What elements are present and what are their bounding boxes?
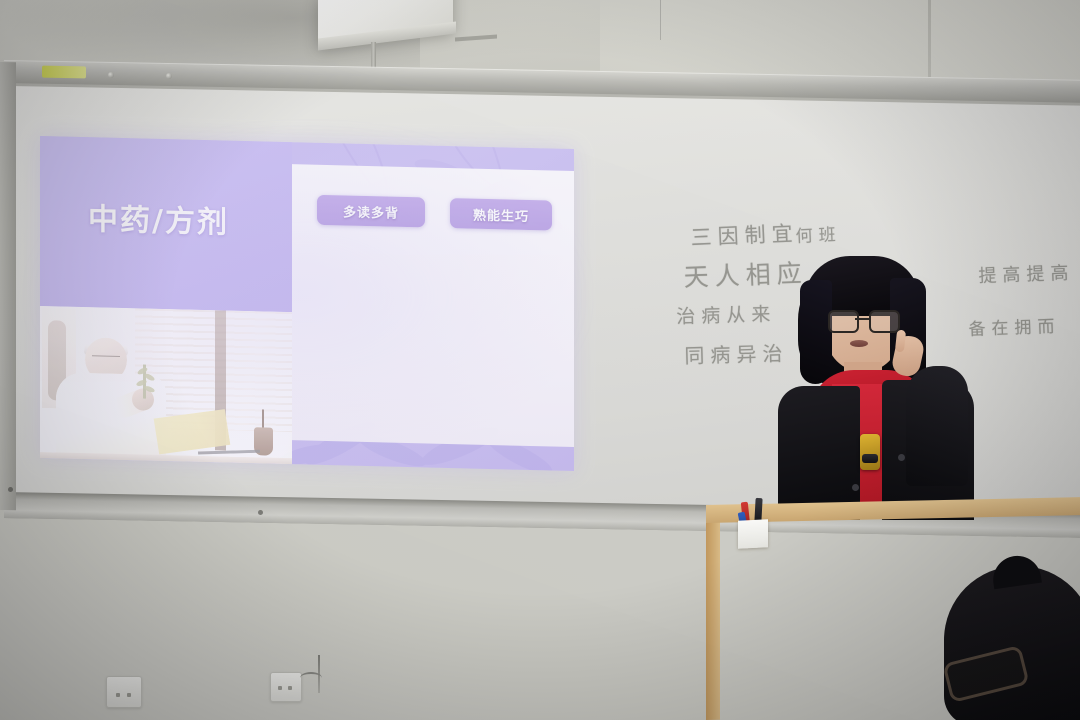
slide-photo [40, 306, 292, 464]
audience-member-silhouette [930, 556, 1080, 720]
presenter-glasses-bridge [855, 318, 869, 320]
wall-outlet [270, 672, 302, 702]
presenter-badge-clip [862, 454, 878, 463]
outlet-hole [278, 686, 282, 690]
presenter-mouth [850, 340, 868, 347]
presenter-arm-right [906, 366, 968, 486]
presenter-coat-button [898, 454, 905, 461]
presenter-glasses-icon [828, 310, 898, 330]
presenter-hair-left [800, 280, 832, 384]
whiteboard-tray-dot [258, 510, 263, 515]
photo-doctor-glasses-icon [92, 355, 120, 363]
presenter-badge [860, 434, 880, 470]
slide-chip-2: 熟能生巧 [450, 198, 552, 230]
wall-outlet [106, 676, 142, 708]
projected-slide: 中药/方剂 多读多背 熟能生 [40, 136, 574, 471]
slide-chip-1: 多读多背 [317, 195, 425, 228]
outlet-hole [116, 693, 120, 697]
presenter-coat-left [778, 386, 860, 520]
whiteboard-left-rail [0, 62, 16, 510]
whiteboard-screw [166, 73, 172, 79]
whiteboard-note: 提高提高 [978, 259, 1075, 288]
outlet-hole [127, 693, 131, 697]
slide-title: 中药/方剂 [88, 194, 229, 241]
whiteboard-label-sticker [42, 66, 86, 79]
slide-content-panel: 多读多背 熟能生巧 [292, 164, 574, 447]
whiteboard-note: 何班 [795, 220, 842, 247]
whiteboard-screw [108, 72, 114, 78]
outlet-hole [288, 686, 292, 690]
whiteboard-note: 三因制宜 [690, 217, 799, 252]
presenter-lens-right [869, 310, 900, 333]
marker-holder [738, 519, 768, 549]
classroom-scene: 三因制宜何班天人相应治病从来同病异治有优劣提高提高备在拥而 [0, 0, 1080, 720]
presenter-coat-button [852, 484, 859, 491]
power-cable-curve [300, 672, 322, 684]
presenter [756, 258, 986, 520]
whiteboard-tray-dot [8, 487, 13, 492]
presenter-lens-left [828, 310, 859, 333]
ceiling-panel-line [660, 0, 661, 40]
